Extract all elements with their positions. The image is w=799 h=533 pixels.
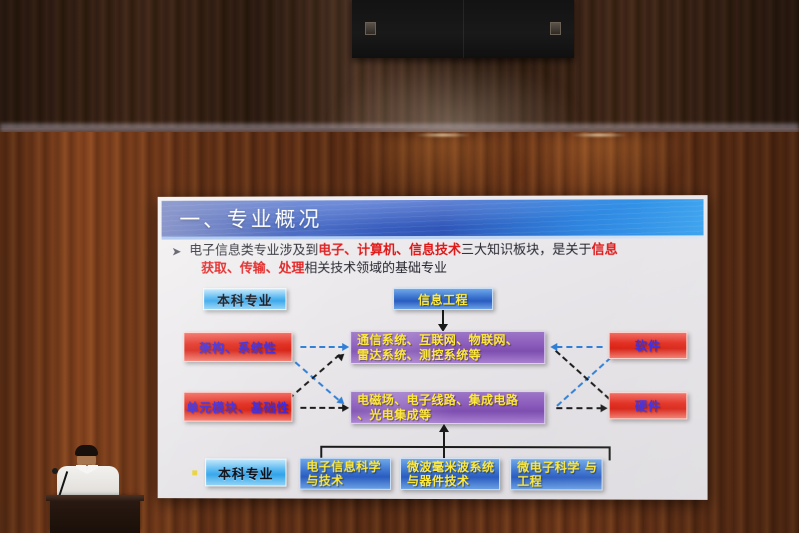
em-line-2: 、光电集成等 — [357, 407, 518, 422]
bracket-horizontal — [320, 446, 610, 449]
arrowhead-arch-to-comm — [342, 343, 349, 351]
bracket-drop-3 — [609, 446, 611, 460]
box-comm-systems: 通信系统、互联网、物联网、 雷达系统、测控系统等 — [350, 331, 545, 364]
body-seg: 相关技术领域的基础专业 — [304, 261, 447, 276]
ceiling-speaker — [352, 0, 574, 58]
title-underline — [162, 235, 704, 239]
wall-light-left — [416, 133, 470, 137]
square-bullet-icon — [192, 470, 197, 475]
lecture-hall-scene: 一、专业概况 ➤ 电子信息类专业涉及到电子、计算机、信息技术三大知识板块，是关于… — [0, 0, 799, 533]
body-seg: 电子信息类专业涉及到 — [189, 243, 318, 258]
major1-line-1: 电子信息科学 — [306, 460, 381, 474]
box-hardware: 硬件 — [609, 392, 688, 419]
arrowhead-diag-black-left — [336, 351, 346, 362]
box-em-field-circuits: 电磁场、电子线路、集成电路 、光电集成等 — [350, 391, 545, 424]
body-seg: 三大知识板块，是关于 — [461, 243, 592, 258]
body-line-2: 获取、传输、处理相关技术领域的基础专业 — [201, 260, 447, 277]
comm-line-2: 雷达系统、测控系统等 — [357, 348, 518, 363]
major2-line-1: 微波毫米波系统 — [407, 460, 495, 474]
arrowhead-em-to-hardware — [601, 404, 608, 412]
connector-diag-blue-right — [556, 357, 611, 407]
box-undergrad-top: 本科专业 — [203, 288, 286, 310]
wall-light-glow — [330, 55, 580, 135]
arrowhead-comm-to-software — [550, 343, 557, 351]
speaker-badge-left — [365, 22, 376, 35]
em-line-1: 电磁场、电子线路、集成电路 — [357, 392, 518, 407]
connector-arch-to-comm-blue — [300, 346, 344, 348]
bullet-arrow-icon: ➤ — [171, 244, 181, 261]
slide-body-text: ➤ 电子信息类专业涉及到电子、计算机、信息技术三大知识板块，是关于信息 获取、传… — [171, 241, 699, 242]
body-seg-red: 获取、传输、处理 — [201, 261, 304, 276]
slide-title: 一、专业概况 — [179, 203, 322, 233]
presenter-hair — [75, 445, 98, 456]
box-undergrad-bottom: 本科专业 — [205, 458, 286, 486]
lectern — [50, 498, 140, 533]
major1-line-2: 与技术 — [306, 474, 343, 488]
box-software: 软件 — [609, 332, 688, 359]
body-seg-red: 电子、计算机、信息技术 — [318, 243, 461, 258]
wall-light-right — [572, 133, 626, 137]
box-major-electronic-info: 电子信息科学 与技术 — [299, 458, 391, 490]
lectern-top — [46, 495, 144, 501]
connector-unit-to-em-black — [300, 407, 344, 409]
microphone-head — [52, 468, 58, 474]
comm-line-1: 通信系统、互联网、物联网、 — [357, 332, 518, 347]
projection-screen: 一、专业概况 ➤ 电子信息类专业涉及到电子、计算机、信息技术三大知识板块，是关于… — [158, 195, 708, 500]
box-unit-module-basic: 单元模块、基础性 — [183, 392, 292, 422]
box-info-engineering: 信息工程 — [393, 288, 493, 310]
connector-diag-black-right — [555, 350, 610, 400]
box-major-microwave: 微波毫米波系统 与器件技术 — [400, 458, 500, 490]
box-architecture-systemic: 架构、系统性 — [183, 332, 292, 362]
body-seg-red: 信息 — [592, 243, 618, 258]
arrowhead-majors-to-em — [439, 424, 449, 432]
major3-line-1: 微电子科学 — [517, 460, 580, 474]
connector-em-to-hardware-black — [556, 407, 602, 409]
connector-comm-to-software-blue — [556, 346, 602, 348]
slide-title-bar: 一、专业概况 — [162, 199, 704, 236]
major2-line-2: 与器件技术 — [407, 474, 470, 488]
speaker-badge-right — [550, 22, 561, 35]
body-line-1: 电子信息类专业涉及到电子、计算机、信息技术三大知识板块，是关于信息 — [189, 242, 617, 260]
box-major-microelectronics: 微电子科学 与工程 — [510, 458, 602, 490]
slide-canvas: 一、专业概况 ➤ 电子信息类专业涉及到电子、计算机、信息技术三大知识板块，是关于… — [162, 199, 704, 496]
